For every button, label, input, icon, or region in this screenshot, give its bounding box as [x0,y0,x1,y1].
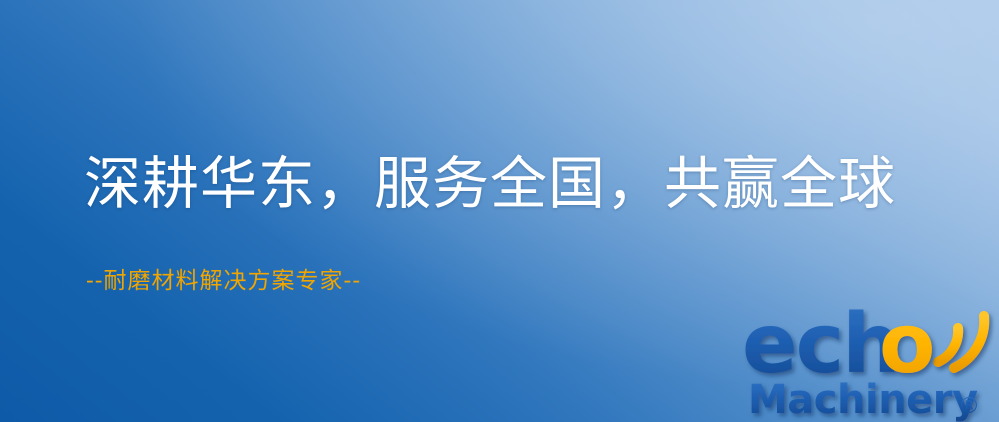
logo-graphic: ech o Machinery ® [742,296,999,422]
signal-wave-icon [938,316,984,368]
logo-tagline: Machinery ® [748,377,980,422]
echo-machinery-logo[interactable]: ech o Machinery ® [742,296,999,422]
hero-banner: 深耕华东，服务全国，共赢全球 --耐磨材料解决方案专家-- [0,0,999,422]
svg-text:®: ® [958,394,980,419]
svg-text:Machinery: Machinery [748,377,978,422]
page-subtitle: --耐磨材料解决方案专家-- [86,268,361,296]
page-title: 深耕华东，服务全国，共赢全球 [84,155,896,215]
